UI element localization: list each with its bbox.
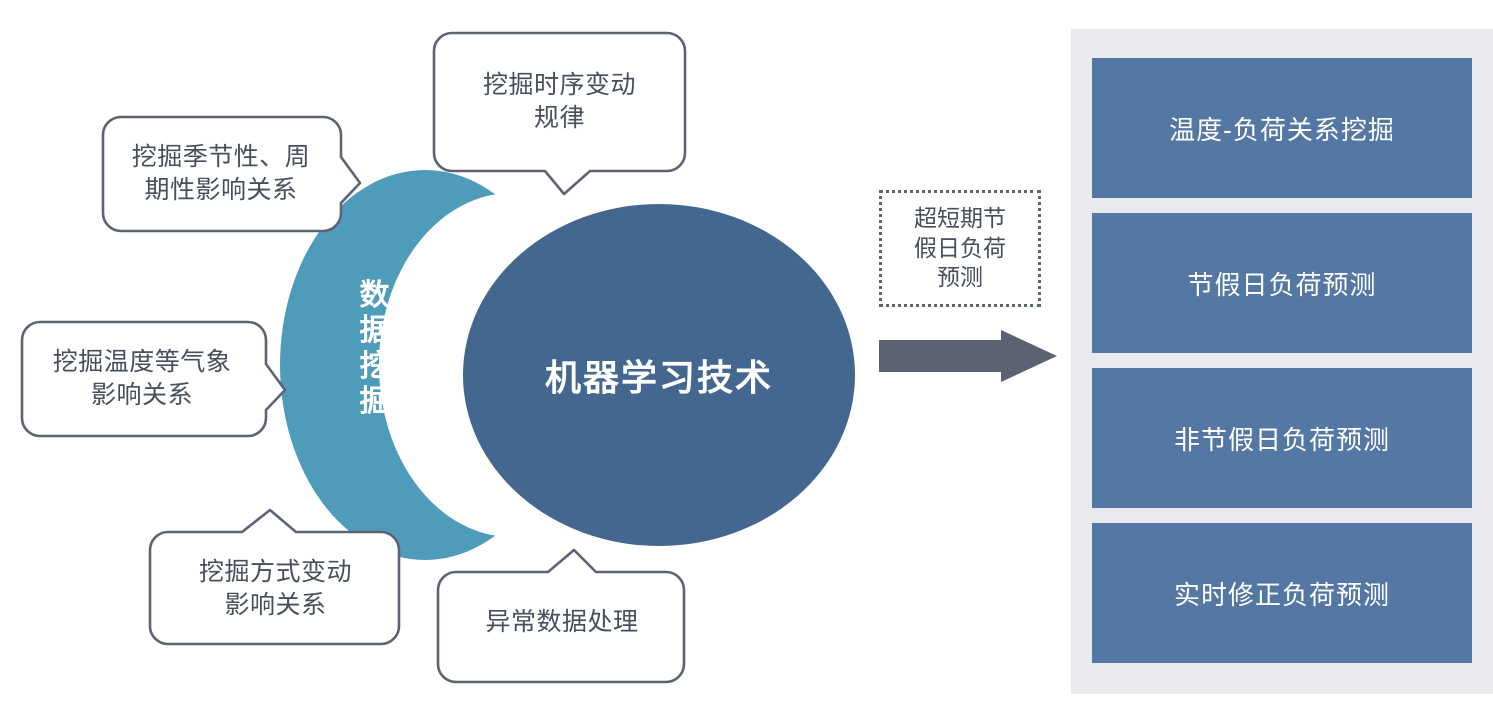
- callout-seasonality: 挖掘季节性、周 期性影响关系: [101, 115, 363, 235]
- core-ellipse-label: 机器学习技术: [463, 204, 855, 546]
- diagram-canvas: 数 据 挖 掘 机器学习技术 挖掘时序变动 规律 挖掘季节性、周 期性影响关系 …: [0, 0, 1493, 721]
- callout-timeseries: 挖掘时序变动 规律: [432, 31, 687, 186]
- callout-anomaly: 异常数据处理: [436, 548, 688, 686]
- flow-arrow-right-icon: [879, 330, 1057, 382]
- crescent-label: 数 据 挖 掘: [352, 278, 398, 420]
- callout-mode-change: 挖掘方式变动 影响关系: [148, 508, 403, 648]
- ultra-short-term-forecast-box: 超短期节 假日负荷 预测: [879, 190, 1041, 307]
- outcome-card[interactable]: 温度-负荷关系挖掘: [1092, 58, 1472, 198]
- outcome-card[interactable]: 非节假日负荷预测: [1092, 368, 1472, 508]
- outcomes-panel: 温度-负荷关系挖掘 节假日负荷预测 非节假日负荷预测 实时修正负荷预测: [1071, 29, 1493, 694]
- callout-weather: 挖掘温度等气象 影响关系: [20, 320, 288, 440]
- outcome-card[interactable]: 实时修正负荷预测: [1092, 523, 1472, 663]
- outcome-card[interactable]: 节假日负荷预测: [1092, 213, 1472, 353]
